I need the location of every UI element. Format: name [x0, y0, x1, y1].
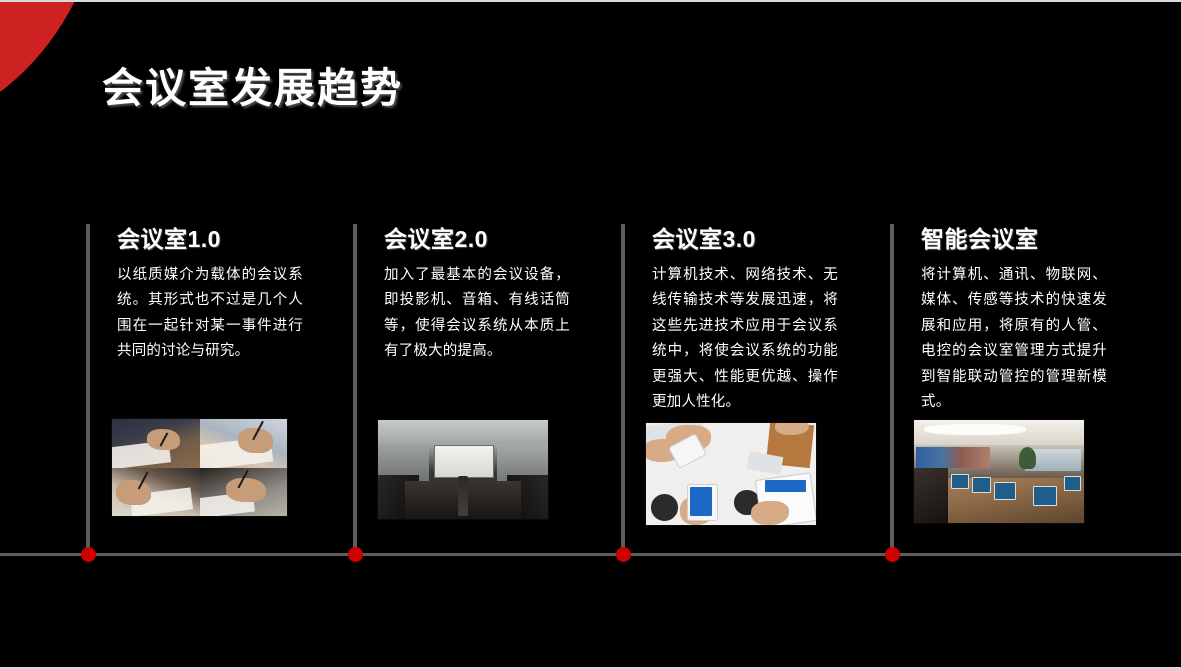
- timeline-dot-4[interactable]: [885, 547, 900, 562]
- column-2-photo: [378, 420, 548, 519]
- column-heading: 会议室2.0: [384, 224, 584, 254]
- column-vertical-rule: [890, 224, 894, 554]
- column-1-photo: [112, 419, 287, 516]
- presentation-slide: 会议室发展趋势 会议室1.0 以纸质媒介为载体的会议系统。其形式也不过是几个人围…: [0, 0, 1181, 669]
- red-accent-shape: [0, 0, 107, 132]
- timeline-dot-1[interactable]: [81, 547, 96, 562]
- column-vertical-rule: [86, 224, 90, 554]
- page-title: 会议室发展趋势: [102, 54, 403, 114]
- timeline-axis-line: [0, 553, 1181, 556]
- column-heading: 智能会议室: [921, 224, 1121, 254]
- column-body-text: 以纸质媒介为载体的会议系统。其形式也不过是几个人围在一起针对某一事件进行共同的讨…: [117, 263, 303, 365]
- column-body-text: 计算机技术、网络技术、无线传输技术等发展迅速，将这些先进技术应用于会议系统中，将…: [652, 263, 838, 415]
- column-vertical-rule: [353, 224, 357, 554]
- column-body-text: 加入了最基本的会议设备，即投影机、音箱、有线话筒等，使得会议系统从本质上有了极大…: [384, 263, 570, 365]
- column-vertical-rule: [621, 224, 625, 554]
- column-body-text: 将计算机、通讯、物联网、媒体、传感等技术的快速发展和应用，将原有的人管、电控的会…: [921, 263, 1107, 415]
- column-heading: 会议室1.0: [117, 224, 317, 254]
- column-heading: 会议室3.0: [652, 224, 852, 254]
- timeline-dot-3[interactable]: [616, 547, 631, 562]
- column-4-photo: [914, 420, 1084, 523]
- column-3-photo: [646, 423, 816, 525]
- timeline-dot-2[interactable]: [348, 547, 363, 562]
